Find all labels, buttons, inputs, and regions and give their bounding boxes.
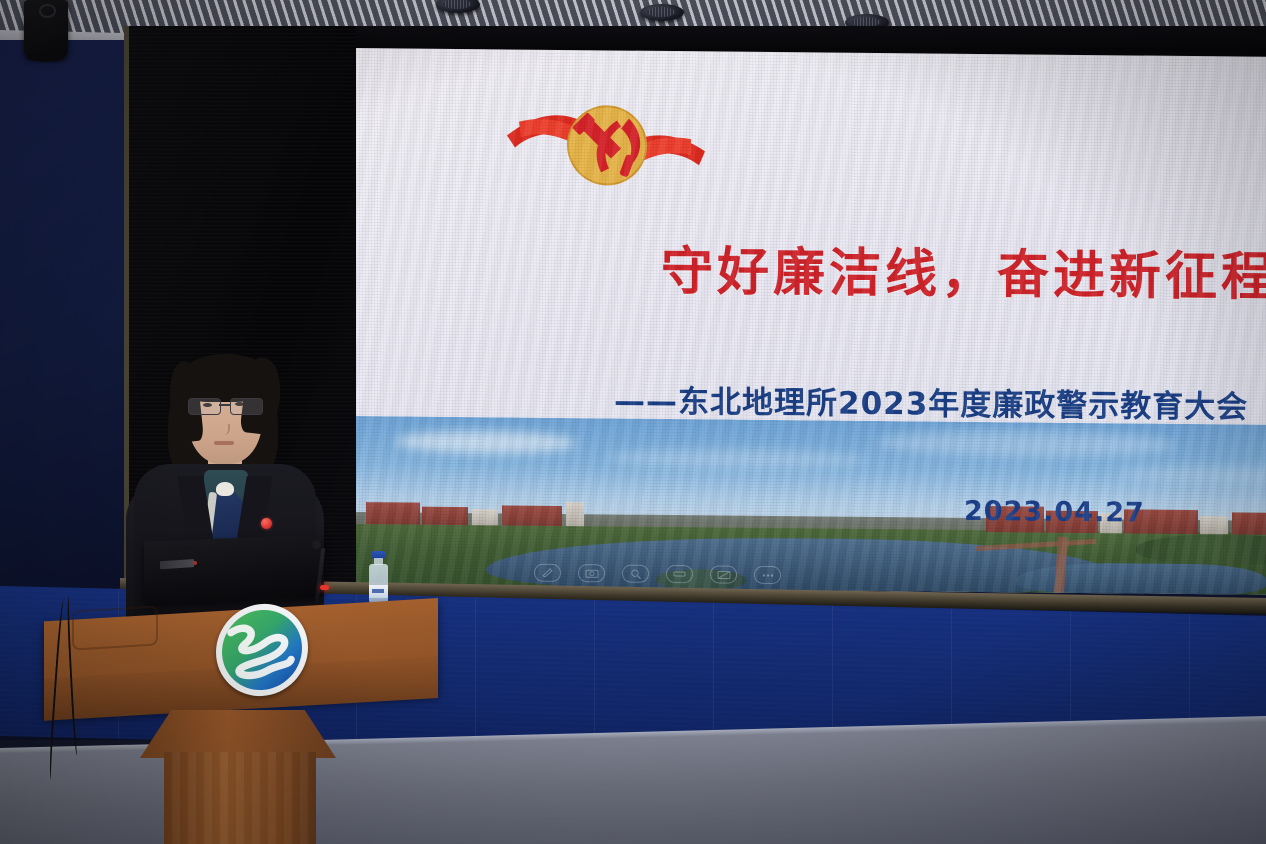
magnifier-icon[interactable] [622, 565, 649, 583]
more-options-icon[interactable] [754, 566, 781, 584]
powerpoint-presenter-toolbar[interactable] [534, 564, 781, 584]
screen-icon[interactable] [710, 565, 737, 583]
speaker-driver [39, 4, 56, 18]
microphone-head [312, 540, 321, 549]
microphone-indicator-icon [320, 585, 329, 590]
presentation-slide: 守好廉洁线，奋进新征程 ——东北地理所2023年度廉政警示教育大会 [356, 48, 1266, 596]
podium-neck [140, 710, 336, 758]
slide-subtitle: ——东北地理所2023年度廉政警示教育大会 [614, 375, 1248, 426]
pen-icon[interactable] [534, 564, 561, 582]
podium-column [164, 752, 316, 844]
slide-nav-icon[interactable] [666, 565, 693, 583]
speaker-base [27, 53, 65, 62]
podium-panel-recess [72, 605, 158, 650]
wall-speaker-icon [24, 0, 68, 58]
party-member-badge-icon [261, 518, 272, 529]
slide-date: 2023.04.27 [964, 496, 1145, 529]
camera-icon[interactable] [578, 564, 605, 582]
wooden-podium [44, 592, 444, 844]
cpc-party-emblem-icon [501, 91, 711, 201]
conference-photo-scene: 守好廉洁线，奋进新征程 ——东北地理所2023年度廉政警示教育大会 [0, 0, 1266, 844]
slide-title: 守好廉洁线，奋进新征程 [661, 229, 1266, 310]
eyeglasses-icon [186, 398, 266, 414]
scarf-knot [216, 482, 234, 496]
ceiling-fixture-icon [640, 4, 684, 21]
thinkpad-logo [160, 559, 194, 569]
institute-globe-logo-icon [216, 602, 308, 699]
led-wall-top-bezel [356, 26, 1266, 48]
